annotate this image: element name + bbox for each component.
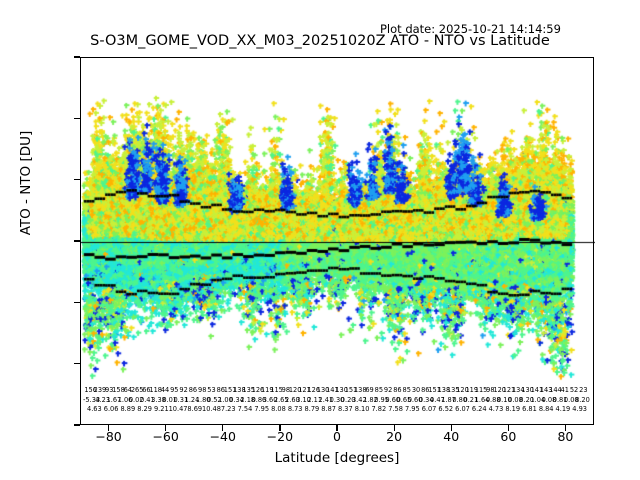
y-axis-label: ATO - NTO [DU] [18,3,34,363]
x-tick-mark [336,425,337,431]
x-tick-mark [108,425,109,431]
x-tick-label: 80 [557,429,573,444]
x-tick-label: −80 [95,429,121,444]
y-tick-mark [74,363,80,364]
x-tick-mark [279,425,280,431]
x-tick-label: −20 [267,429,293,444]
scatter-canvas [81,58,595,426]
x-tick-mark [165,425,166,431]
x-tick-mark [508,425,509,431]
plot-root: Plot date: 2025-10-21 14:14:59 S-O3M_GOM… [0,0,640,480]
x-tick-label: 60 [500,429,516,444]
x-tick-label: 20 [386,429,402,444]
x-axis-label: Latitude [degrees] [80,450,594,466]
x-tick-label: −60 [152,429,178,444]
y-tick-mark [74,179,80,180]
y-tick-mark [74,118,80,119]
plot-axes-area [80,57,594,425]
x-tick-mark [565,425,566,431]
y-tick-mark [74,56,80,57]
x-tick-label: −40 [210,429,236,444]
x-tick-mark [394,425,395,431]
y-tick-mark [74,302,80,303]
x-tick-mark [222,425,223,431]
page-title: S-O3M_GOME_VOD_XX_M03_20251020Z ATO - NT… [0,33,640,49]
y-tick-mark [74,240,80,241]
x-tick-mark [451,425,452,431]
x-tick-label: 40 [443,429,459,444]
x-tick-label: 0 [333,429,341,444]
y-tick-mark [74,424,80,425]
